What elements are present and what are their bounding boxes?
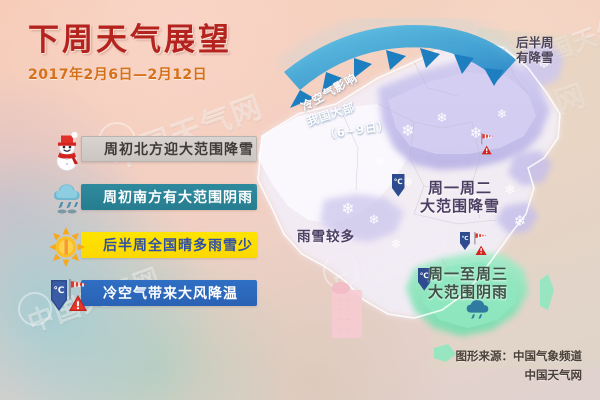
page-title: 下周天气展望 [28,24,232,57]
snowman-icon [48,130,88,172]
rain-cloud-icon [48,178,88,220]
svg-text:❄: ❄ [470,124,483,142]
svg-text:❄: ❄ [514,212,527,230]
svg-text:❄: ❄ [437,111,448,126]
cold-wind-warning-icon: ℃ [48,274,106,316]
svg-text:·: · [338,327,340,334]
svg-text:❄: ❄ [341,199,354,218]
svg-text:·: · [348,327,350,334]
svg-text:℃: ℃ [420,271,429,280]
svg-text:·: · [338,307,340,314]
svg-text:℃: ℃ [462,235,469,242]
svg-text:❄: ❄ [497,107,507,121]
svg-text:·: · [338,317,340,324]
svg-text:·: · [348,317,350,324]
svg-text:℃: ℃ [394,177,403,186]
svg-text:❄: ❄ [538,56,550,72]
sun-icon [48,226,88,268]
svg-text:❄: ❄ [326,228,339,246]
source-line-2: 中国天气网 [456,366,583,386]
infographic-canvas: 中国天气网 中国天气网 中国天气网 中国天气网 中国天气网 下周天气展望 201… [0,0,600,400]
decorative-pink-box: ·· ·· ·· ·· [332,282,362,338]
title-block: 下周天气展望 2017年2月6日—2月12日 [28,24,232,84]
source-credit: 图形来源：中国气象频道 中国天气网 [456,347,583,386]
svg-text:❄: ❄ [375,155,386,170]
source-line-1: 图形来源：中国气象频道 [456,347,583,367]
svg-text:❄: ❄ [391,237,401,251]
svg-text:❄: ❄ [505,183,516,198]
china-weather-map: ❄ ❄ ❄ ❄ ❄ ❄ ❄ ❄ ❄ ❄ ❄ ❄ ❄ ❄ [228,18,600,368]
watermark-ring-icon [18,292,52,326]
svg-text:❄: ❄ [470,192,482,208]
date-range: 2017年2月6日—2月12日 [28,64,232,84]
legend-item-label: 冷空气带来大风降温 [103,283,238,303]
svg-text:❄: ❄ [401,121,414,140]
svg-text:·: · [348,297,350,304]
svg-text:·: · [338,297,340,304]
svg-text:·: · [348,307,350,314]
svg-text:℃: ℃ [54,286,65,296]
svg-text:❄: ❄ [369,213,380,228]
